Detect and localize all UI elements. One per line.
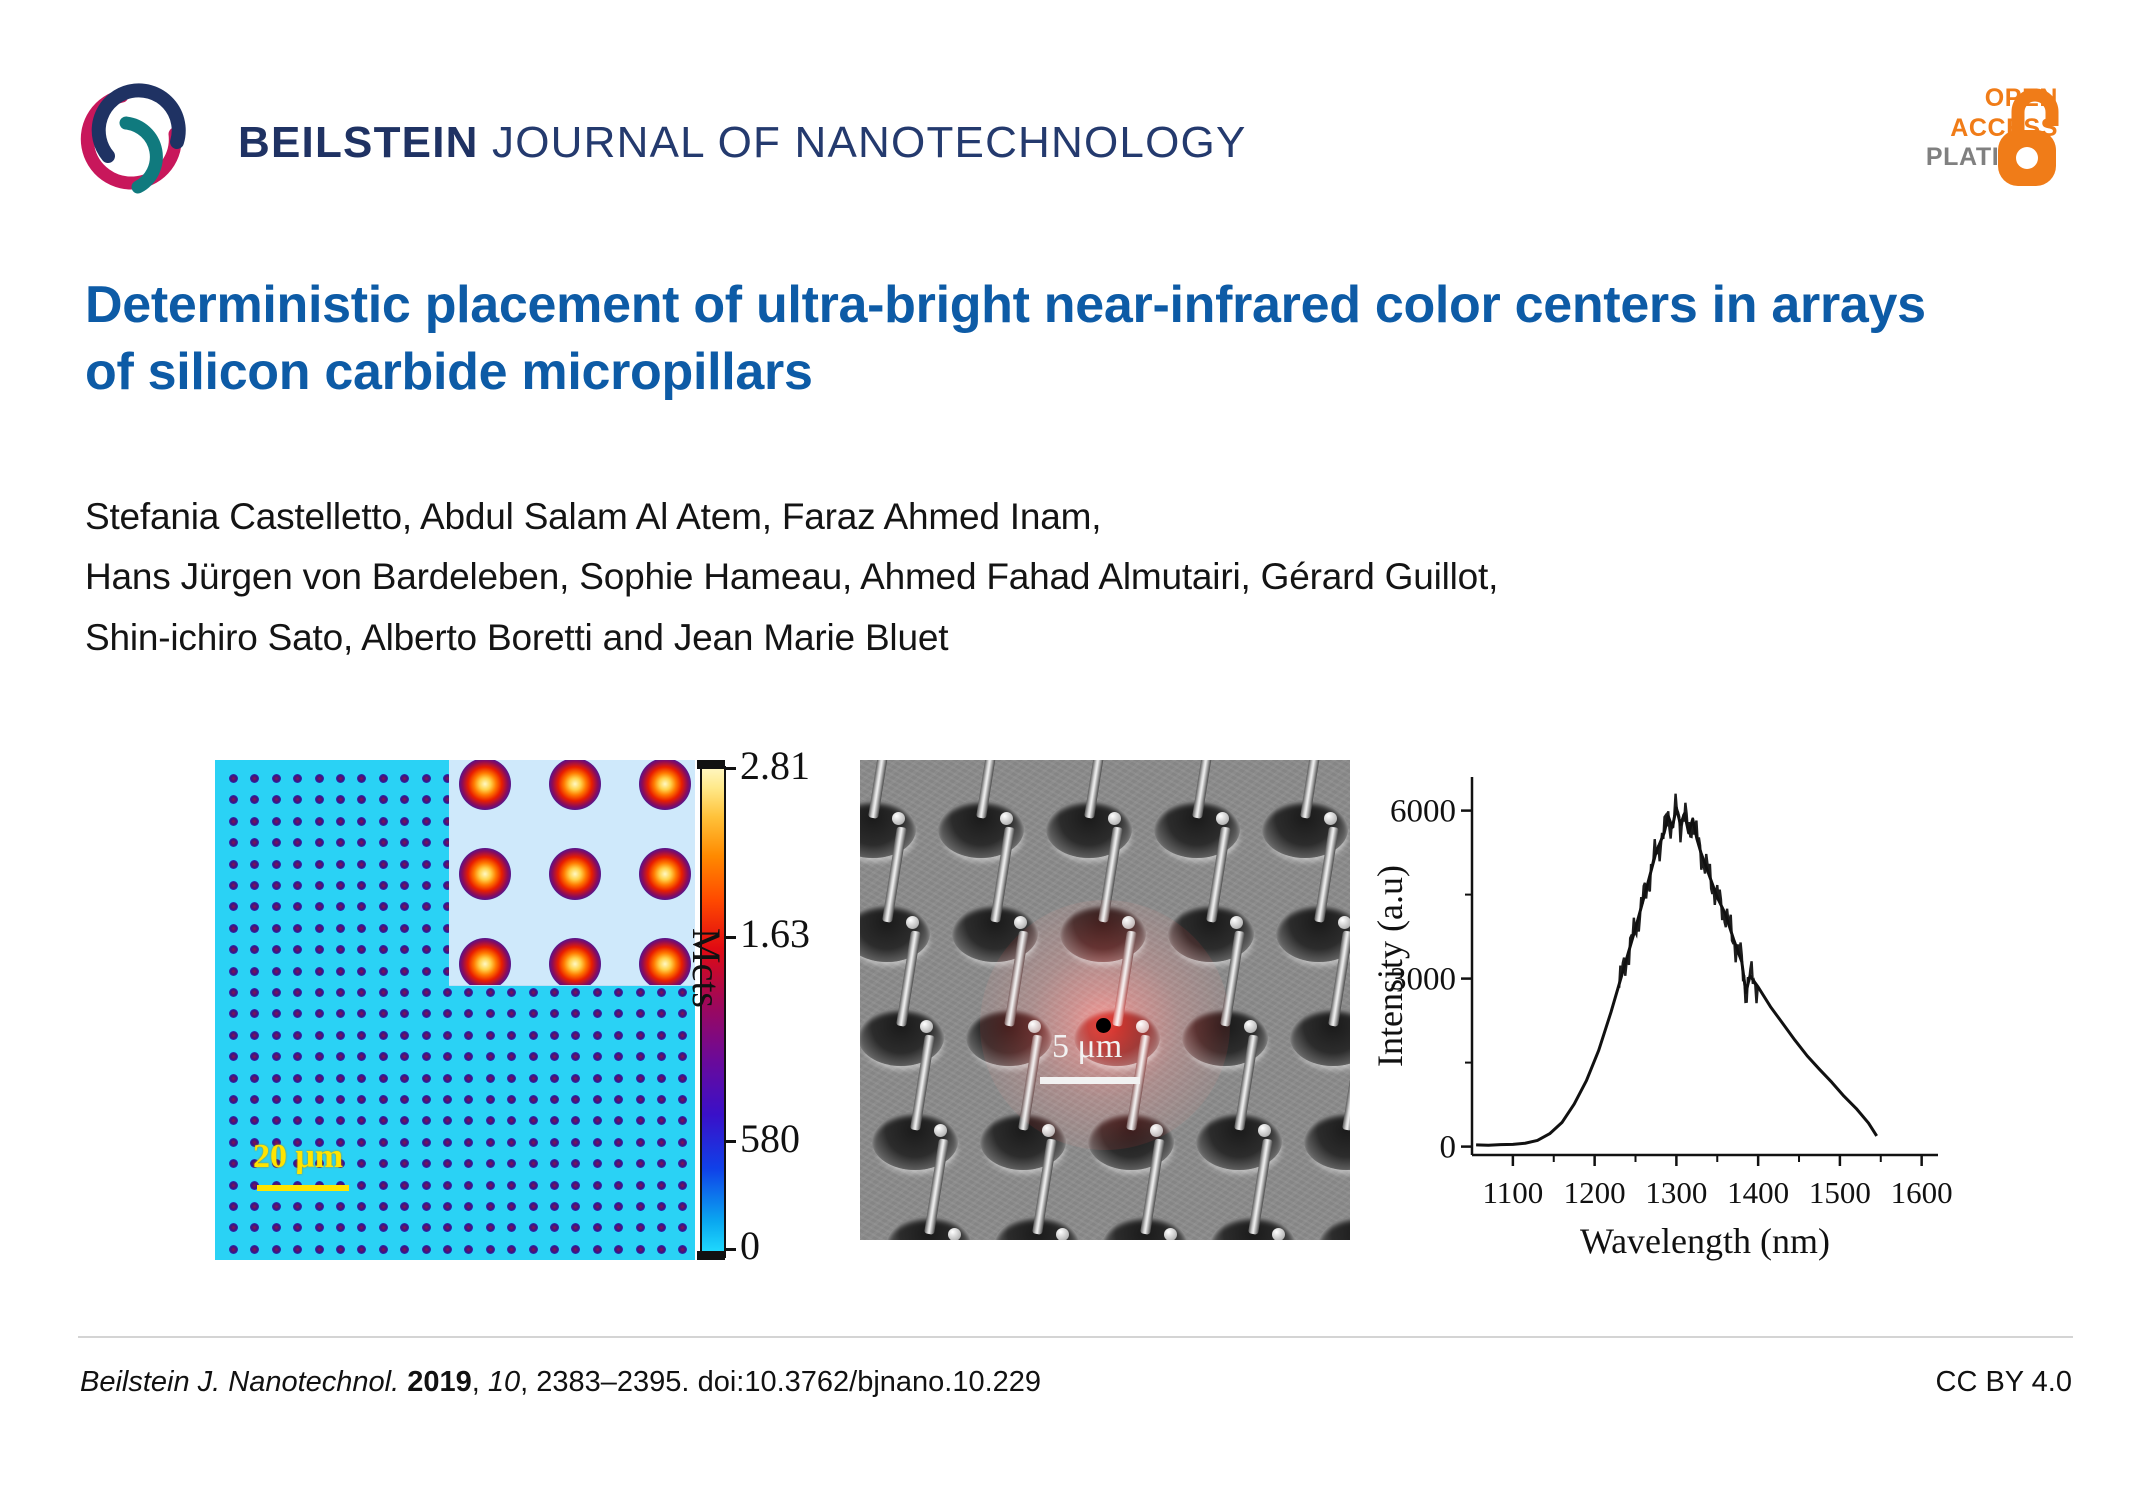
confocal-dot [593, 1245, 602, 1254]
colorbar-label-mid: 1.63 [740, 910, 810, 957]
confocal-dot [229, 967, 238, 976]
confocal-dot [272, 795, 281, 804]
confocal-dot [357, 1009, 366, 1018]
confocal-dot [443, 1116, 452, 1125]
graphical-abstract-figure: 2 μm 20 μm 2.81 1.63 580 0 Mcts [0, 755, 2150, 1275]
confocal-dot [315, 988, 324, 997]
map-scalebar-line [257, 1185, 349, 1191]
confocal-dot [571, 1245, 580, 1254]
confocal-dot [400, 1138, 409, 1147]
confocal-dot [250, 1116, 259, 1125]
sem-pillar-tip [1150, 1124, 1163, 1137]
confocal-dot [507, 1159, 516, 1168]
confocal-bright-spot [549, 760, 601, 810]
confocal-dot [571, 1095, 580, 1104]
confocal-dot [678, 1245, 687, 1254]
confocal-dot [293, 1052, 302, 1061]
confocal-dot [293, 1116, 302, 1125]
confocal-bright-spot [639, 848, 691, 900]
sem-pillar-tip [1338, 916, 1350, 929]
sem-pillar-tip [1272, 1228, 1285, 1240]
confocal-dot [464, 1052, 473, 1061]
confocal-dot [250, 817, 259, 826]
confocal-dot [229, 1159, 238, 1168]
confocal-dot [443, 1009, 452, 1018]
confocal-dot [357, 1245, 366, 1254]
confocal-dot [315, 1202, 324, 1211]
confocal-dot [315, 795, 324, 804]
confocal-dot [593, 1074, 602, 1083]
confocal-dot [507, 1202, 516, 1211]
confocal-dot [272, 1074, 281, 1083]
confocal-dot [272, 988, 281, 997]
confocal-dot [357, 881, 366, 890]
confocal-dot [293, 945, 302, 954]
confocal-dot [422, 1052, 431, 1061]
confocal-dot [315, 1223, 324, 1232]
confocal-dot [250, 1031, 259, 1040]
confocal-dot [486, 1223, 495, 1232]
confocal-dot [464, 1074, 473, 1083]
confocal-dot [379, 988, 388, 997]
confocal-dot [293, 924, 302, 933]
confocal-dot [400, 774, 409, 783]
confocal-dot [636, 1223, 645, 1232]
confocal-dot [593, 1223, 602, 1232]
confocal-dot [422, 774, 431, 783]
confocal-dot [400, 1009, 409, 1018]
confocal-dot [593, 1009, 602, 1018]
confocal-dot [336, 945, 345, 954]
confocal-dot [678, 1223, 687, 1232]
confocal-dot [529, 1074, 538, 1083]
author-line-3: Shin-ichiro Sato, Alberto Boretti and Je… [85, 608, 2075, 668]
confocal-dot [400, 967, 409, 976]
confocal-dot [336, 902, 345, 911]
confocal-dot [272, 924, 281, 933]
article-title: Deterministic placement of ultra-bright … [85, 272, 1985, 405]
confocal-dot [336, 1074, 345, 1083]
confocal-bright-spot [639, 760, 691, 810]
confocal-dot [614, 1031, 623, 1040]
confocal-dot [293, 838, 302, 847]
open-lock-icon [1992, 82, 2072, 190]
confocal-dot [507, 1095, 516, 1104]
confocal-dot [379, 1181, 388, 1190]
confocal-dot [529, 1052, 538, 1061]
confocal-dot [357, 902, 366, 911]
sem-pillar-tip [1136, 1020, 1149, 1033]
confocal-dot [636, 1052, 645, 1061]
confocal-dot [336, 988, 345, 997]
colorbar-tick-max [724, 767, 736, 770]
confocal-dot [272, 838, 281, 847]
confocal-dot [250, 1052, 259, 1061]
confocal-dot [571, 1009, 580, 1018]
confocal-dot [636, 1202, 645, 1211]
confocal-dot [357, 1095, 366, 1104]
confocal-dot [336, 774, 345, 783]
confocal-dot [486, 1181, 495, 1190]
confocal-dot [379, 1223, 388, 1232]
confocal-dot [379, 902, 388, 911]
confocal-dot [272, 945, 281, 954]
confocal-dot [400, 1181, 409, 1190]
confocal-dot [250, 1223, 259, 1232]
confocal-dot [293, 1202, 302, 1211]
confocal-dot [571, 1138, 580, 1147]
sem-pillar-tip [1056, 1228, 1069, 1240]
confocal-dot [593, 1052, 602, 1061]
confocal-dot [486, 1052, 495, 1061]
confocal-dot [550, 1138, 559, 1147]
confocal-dot [507, 1074, 516, 1083]
confocal-dot [379, 1245, 388, 1254]
confocal-dot [443, 1052, 452, 1061]
confocal-dot [486, 988, 495, 997]
confocal-dot [443, 1138, 452, 1147]
confocal-dot [293, 1074, 302, 1083]
beilstein-logo-icon [78, 82, 196, 200]
sem-pillar-tip [1258, 1124, 1271, 1137]
confocal-dot [229, 1052, 238, 1061]
confocal-dot [250, 967, 259, 976]
confocal-dot [443, 1095, 452, 1104]
citation-doi: doi:10.3762/bjnano.10.229 [698, 1366, 1041, 1398]
sem-pillar-tip [1014, 916, 1027, 929]
confocal-dot [422, 1009, 431, 1018]
confocal-dot [315, 817, 324, 826]
confocal-dot [529, 1202, 538, 1211]
confocal-dot [614, 1074, 623, 1083]
confocal-dot [571, 1116, 580, 1125]
confocal-dot [250, 881, 259, 890]
confocal-dot [379, 1116, 388, 1125]
confocal-dot [657, 1009, 666, 1018]
sem-panel: 5 μm [860, 760, 1350, 1260]
confocal-dot [443, 1074, 452, 1083]
confocal-dot [315, 860, 324, 869]
confocal-dot [315, 967, 324, 976]
confocal-dot [315, 1074, 324, 1083]
confocal-dot [636, 1138, 645, 1147]
confocal-dot [229, 817, 238, 826]
confocal-dot [336, 1031, 345, 1040]
confocal-dot [464, 1223, 473, 1232]
page-header: BEILSTEIN JOURNAL OF NANOTECHNOLOGY OPEN… [0, 0, 2150, 200]
confocal-dot [250, 1095, 259, 1104]
confocal-dot [250, 945, 259, 954]
confocal-dot [571, 1031, 580, 1040]
confocal-dot [272, 1095, 281, 1104]
confocal-dot [229, 1223, 238, 1232]
confocal-dot [272, 881, 281, 890]
confocal-dot [550, 1223, 559, 1232]
colorbar-unit-label: Mcts [683, 928, 730, 1008]
confocal-dot [678, 1202, 687, 1211]
colorbar-label-min: 0 [740, 1222, 760, 1269]
confocal-bright-spot [549, 848, 601, 900]
confocal-dot [229, 838, 238, 847]
confocal-dot [229, 1031, 238, 1040]
confocal-dot [250, 988, 259, 997]
citation-line: Beilstein J. Nanotechnol. 2019, 10, 2383… [80, 1366, 1041, 1399]
confocal-dot [250, 838, 259, 847]
confocal-dot [293, 1245, 302, 1254]
confocal-dot [400, 1159, 409, 1168]
confocal-dot [636, 1116, 645, 1125]
confocal-dot [443, 988, 452, 997]
confocal-dot [379, 774, 388, 783]
confocal-dot [272, 1009, 281, 1018]
confocal-dot [636, 1095, 645, 1104]
confocal-dot [636, 1031, 645, 1040]
confocal-dot [336, 1202, 345, 1211]
confocal-dot [529, 1223, 538, 1232]
confocal-dot [443, 1202, 452, 1211]
confocal-dot [464, 988, 473, 997]
confocal-dot [464, 1159, 473, 1168]
confocal-dot [357, 838, 366, 847]
confocal-dot [229, 924, 238, 933]
confocal-dot [443, 1245, 452, 1254]
confocal-dot [614, 1095, 623, 1104]
confocal-dot [357, 1202, 366, 1211]
confocal-dot [336, 1116, 345, 1125]
sem-pillar-tip [1000, 812, 1013, 825]
confocal-dot [464, 1202, 473, 1211]
confocal-dot [379, 795, 388, 804]
confocal-dot [229, 1202, 238, 1211]
author-line-2: Hans Jürgen von Bardeleben, Sophie Hamea… [85, 547, 2075, 607]
sem-scalebar-label: 5 μm [1052, 1028, 1122, 1066]
confocal-dot [678, 1159, 687, 1168]
confocal-dot [250, 860, 259, 869]
confocal-dot [507, 1245, 516, 1254]
map-scalebar-label: 20 μm [253, 1138, 343, 1176]
confocal-dot [229, 988, 238, 997]
confocal-dot [272, 1052, 281, 1061]
confocal-dot [250, 1074, 259, 1083]
confocal-dot [550, 1074, 559, 1083]
confocal-dot [678, 1031, 687, 1040]
confocal-dot [614, 1223, 623, 1232]
confocal-dot [422, 817, 431, 826]
confocal-dot [550, 1159, 559, 1168]
confocal-dot [272, 967, 281, 976]
confocal-dot [550, 1031, 559, 1040]
confocal-dot [593, 1138, 602, 1147]
colorbar-gradient [700, 766, 726, 1258]
confocal-dot [614, 1202, 623, 1211]
confocal-dot [357, 945, 366, 954]
footer-divider [78, 1336, 2073, 1338]
colorbar-tick-low [724, 1140, 736, 1143]
sem-pillar-tip [948, 1228, 961, 1240]
confocal-dot [486, 1159, 495, 1168]
confocal-dot [315, 1031, 324, 1040]
confocal-dot [657, 1202, 666, 1211]
confocal-dot [336, 1095, 345, 1104]
confocal-dot [229, 881, 238, 890]
colorbar-cap-top [697, 760, 725, 769]
confocal-dot [379, 1052, 388, 1061]
author-line-1: Stefania Castelletto, Abdul Salam Al Ate… [85, 487, 2075, 547]
confocal-dot [614, 988, 623, 997]
spectrum-xlabel: Wavelength (nm) [1580, 1221, 1830, 1261]
confocal-dot [657, 1138, 666, 1147]
confocal-dot [614, 1181, 623, 1190]
confocal-dot [229, 1138, 238, 1147]
confocal-dot [464, 1245, 473, 1254]
confocal-dot [379, 1074, 388, 1083]
confocal-dot [614, 1052, 623, 1061]
confocal-dot [529, 1116, 538, 1125]
confocal-dot [422, 967, 431, 976]
confocal-dot [293, 774, 302, 783]
confocal-dot [486, 1138, 495, 1147]
confocal-dot [315, 1116, 324, 1125]
sem-pillar-tip [1230, 916, 1243, 929]
confocal-dot [657, 1159, 666, 1168]
confocal-dot [379, 881, 388, 890]
confocal-dot [464, 1031, 473, 1040]
confocal-bright-spot [459, 938, 511, 986]
spectrum-x-ticklabel: 1500 [1809, 1175, 1871, 1210]
confocal-dot [336, 924, 345, 933]
confocal-dot [379, 1138, 388, 1147]
confocal-dot [550, 1202, 559, 1211]
confocal-dot [293, 795, 302, 804]
confocal-dot [464, 1116, 473, 1125]
confocal-dot [336, 967, 345, 976]
confocal-dot [422, 1095, 431, 1104]
confocal-dot [529, 1181, 538, 1190]
confocal-dot [571, 1074, 580, 1083]
confocal-dot [357, 817, 366, 826]
confocal-bright-spot [459, 760, 511, 810]
sem-scalebar-line [1040, 1077, 1140, 1084]
confocal-dot [550, 988, 559, 997]
confocal-dot [272, 1031, 281, 1040]
confocal-dot [529, 1031, 538, 1040]
confocal-dot [593, 1202, 602, 1211]
confocal-dot [636, 1009, 645, 1018]
confocal-dot [315, 881, 324, 890]
confocal-dot [250, 1245, 259, 1254]
confocal-dot [529, 988, 538, 997]
confocal-dot [250, 924, 259, 933]
confocal-dot [357, 1159, 366, 1168]
confocal-dot [400, 1223, 409, 1232]
sem-pillar-tip [1324, 812, 1337, 825]
confocal-dot [336, 817, 345, 826]
sem-pillar-tip [1108, 812, 1121, 825]
confocal-dot [507, 1031, 516, 1040]
spectrum-x-ticklabel: 1600 [1891, 1175, 1953, 1210]
confocal-dot [507, 1181, 516, 1190]
confocal-dot [315, 1095, 324, 1104]
confocal-dot [229, 945, 238, 954]
confocal-dot [636, 1074, 645, 1083]
confocal-dot [293, 1095, 302, 1104]
confocal-dot [636, 1181, 645, 1190]
confocal-dot [657, 1116, 666, 1125]
citation-pages: 2383–2395. [536, 1366, 689, 1398]
confocal-dot [571, 1202, 580, 1211]
confocal-dot [379, 817, 388, 826]
spectrum-x-ticklabel: 1200 [1564, 1175, 1626, 1210]
confocal-dot [293, 881, 302, 890]
confocal-dot [571, 988, 580, 997]
confocal-dot [229, 1074, 238, 1083]
confocal-dot [357, 1138, 366, 1147]
confocal-dot [422, 1074, 431, 1083]
sem-pillar-tip [1164, 1228, 1177, 1240]
confocal-dot [250, 1009, 259, 1018]
confocal-dot [486, 1245, 495, 1254]
confocal-dot [229, 795, 238, 804]
confocal-dot [400, 945, 409, 954]
confocal-dot [464, 1181, 473, 1190]
confocal-dot [336, 838, 345, 847]
confocal-dot [336, 1009, 345, 1018]
confocal-dot [357, 1116, 366, 1125]
confocal-dot [229, 774, 238, 783]
confocal-dot [293, 1031, 302, 1040]
confocal-dot [550, 1095, 559, 1104]
confocal-dot [657, 1245, 666, 1254]
confocal-dot [400, 860, 409, 869]
confocal-dot [422, 988, 431, 997]
confocal-dot [379, 945, 388, 954]
sem-pillar-tip [1042, 1124, 1055, 1137]
confocal-dot [571, 1052, 580, 1061]
confocal-map-panel: 2 μm 20 μm [215, 760, 695, 1260]
license-label: CC BY 4.0 [1936, 1366, 2072, 1399]
confocal-dot [293, 860, 302, 869]
confocal-dot [379, 1159, 388, 1168]
confocal-dot [357, 1074, 366, 1083]
confocal-dot [614, 1245, 623, 1254]
confocal-dot [657, 1052, 666, 1061]
confocal-dot [422, 1116, 431, 1125]
confocal-dot [614, 1009, 623, 1018]
sem-pillar-tip [1028, 1020, 1041, 1033]
confocal-colorbar: 2.81 1.63 580 0 Mcts [700, 760, 726, 1260]
confocal-dot [486, 1074, 495, 1083]
confocal-dot [272, 860, 281, 869]
confocal-dot [250, 902, 259, 911]
confocal-dot [507, 1116, 516, 1125]
confocal-dot [272, 1245, 281, 1254]
confocal-dot [636, 1159, 645, 1168]
confocal-dot [293, 817, 302, 826]
confocal-dot [464, 1009, 473, 1018]
confocal-map-image: 2 μm 20 μm [215, 760, 695, 1260]
confocal-dot [272, 774, 281, 783]
confocal-dot [357, 795, 366, 804]
spectrum-noise [1619, 794, 1758, 1004]
confocal-dot [357, 1031, 366, 1040]
sem-pillar-tip [892, 812, 905, 825]
confocal-dot [315, 1052, 324, 1061]
confocal-dot [400, 988, 409, 997]
confocal-dot [336, 1245, 345, 1254]
confocal-dot [250, 1202, 259, 1211]
confocal-dot [357, 1181, 366, 1190]
confocal-dot [657, 1095, 666, 1104]
